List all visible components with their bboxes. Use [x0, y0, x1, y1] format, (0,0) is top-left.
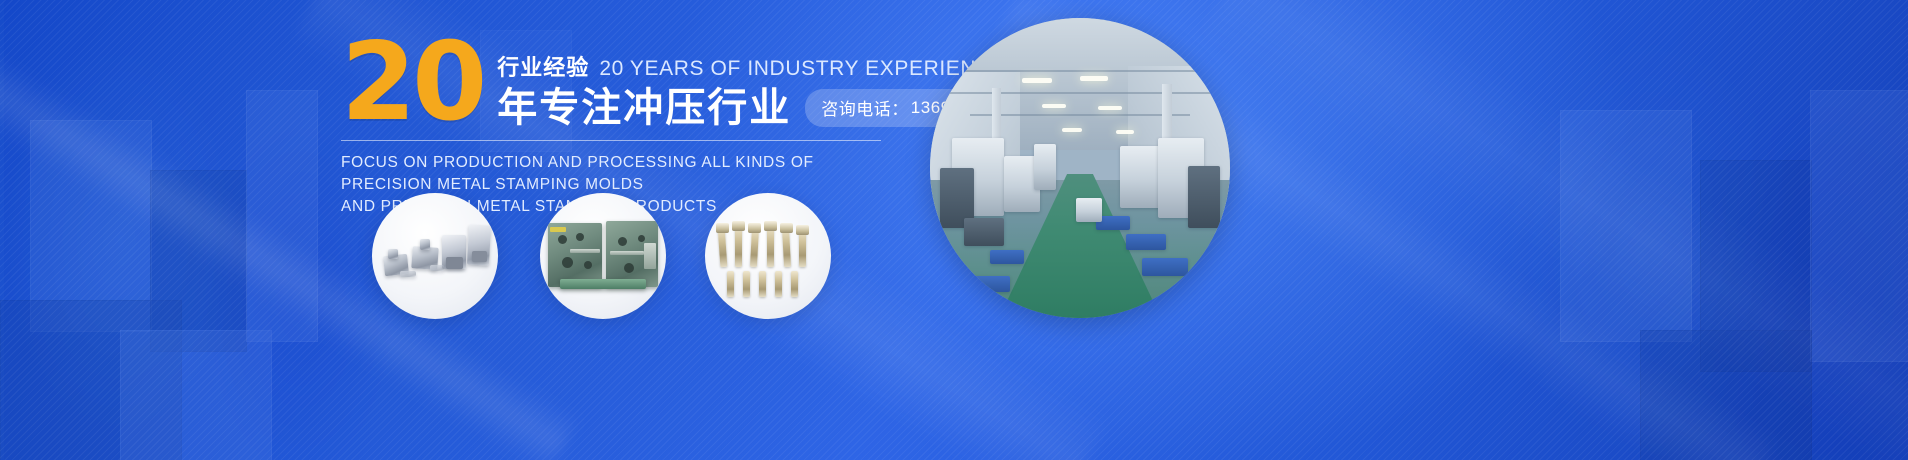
factory-light: [1042, 104, 1066, 108]
connectors-image: [372, 193, 498, 319]
factory-photo-circle: [930, 18, 1230, 318]
product-circle-pins: [705, 193, 831, 319]
phone-label: 咨询电话：: [821, 95, 909, 120]
years-number: 20: [341, 38, 483, 129]
factory-light: [1116, 130, 1134, 134]
pins-image: [705, 193, 831, 319]
experience-label-cn: 行业经验: [497, 50, 589, 82]
headline-block: 20 行业经验 20 YEARS OF INDUSTRY EXPERIENCE …: [341, 36, 961, 218]
product-circle-connectors: [372, 193, 498, 319]
factory-light: [1098, 106, 1122, 110]
focus-industry-cn: 年专注冲压行业: [497, 86, 791, 130]
headline-row: 20 行业经验 20 YEARS OF INDUSTRY EXPERIENCE …: [341, 36, 961, 130]
factory-light: [1022, 78, 1052, 83]
description-line-1: FOCUS ON PRODUCTION AND PROCESSING ALL K…: [341, 152, 901, 196]
product-circle-mold: [540, 193, 666, 319]
factory-light: [1062, 128, 1082, 132]
factory-light: [1080, 76, 1108, 81]
hero-banner: 20 行业经验 20 YEARS OF INDUSTRY EXPERIENCE …: [0, 0, 1908, 460]
mold-image: [540, 193, 666, 319]
